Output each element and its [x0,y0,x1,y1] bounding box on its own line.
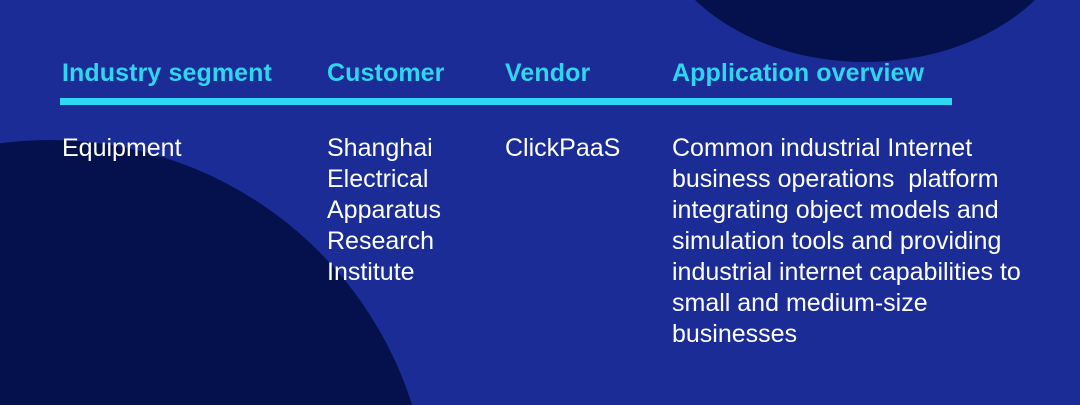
comparison-table: Industry segment Customer Vendor Applica… [0,0,1080,405]
cell-vendor: ClickPaaS [505,133,667,164]
column-header-vendor: Vendor [505,58,667,88]
cell-application-overview: Common industrial Internet business oper… [672,133,1052,350]
table-header-row: Industry segment Customer Vendor Applica… [0,58,1080,94]
column-header-customer: Customer [327,58,499,88]
slide-canvas: Industry segment Customer Vendor Applica… [0,0,1080,405]
header-underline-rule [60,98,952,105]
cell-customer: Shanghai Electrical Apparatus Research I… [327,133,499,288]
column-header-industry-segment: Industry segment [62,58,322,88]
cell-industry-segment: Equipment [62,133,322,164]
column-header-application-overview: Application overview [672,58,1052,88]
